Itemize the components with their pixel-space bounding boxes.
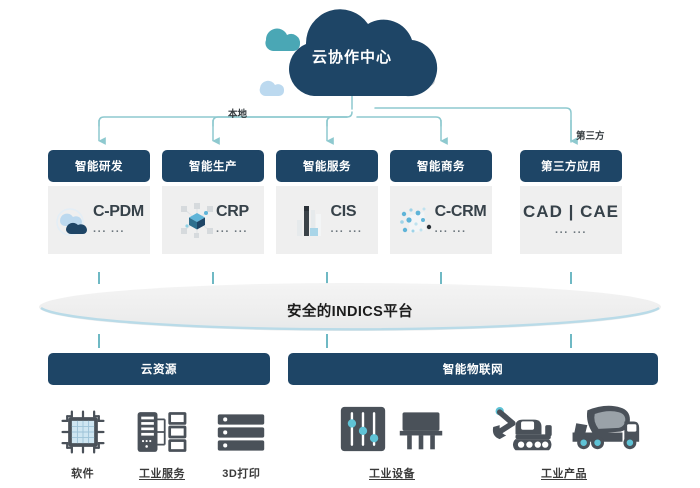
product-dots: ··· ··· (555, 227, 587, 239)
app-card-service[interactable]: 智能服务 CIS ··· ··· (276, 150, 378, 254)
cloud-resource-icons: 软件 (44, 400, 280, 481)
product-name: CAD | CAE (523, 202, 619, 222)
app-card-body: C-PDM ··· ··· (48, 186, 150, 254)
cement-truck-icon (567, 401, 641, 458)
infra-bar-cloud-resources[interactable]: 云资源 (48, 353, 270, 385)
small-teal-cloud (265, 29, 300, 51)
resource-label: 工业服务 (139, 465, 185, 481)
app-card-body: CIS ··· ··· (276, 186, 378, 254)
resource-item-3d-printing[interactable]: 3D打印 (215, 400, 267, 481)
app-card-header: 智能商务 (390, 150, 492, 182)
iot-resource-icons: 工业设备 (318, 400, 662, 481)
resource-label: 工业产品 (541, 465, 587, 481)
app-card-production[interactable]: 智能生产 (162, 150, 264, 254)
product-name: CRP (216, 203, 249, 221)
product-dots: ··· ··· (330, 226, 362, 238)
resource-label: 3D打印 (222, 465, 260, 481)
app-card-body: CAD | CAE ··· ··· (520, 186, 622, 254)
infra-bar-iot[interactable]: 智能物联网 (288, 353, 658, 385)
cloud-icon (54, 200, 90, 240)
product-dots: ··· ··· (435, 226, 467, 238)
app-card-header: 智能生产 (162, 150, 264, 182)
platform-label: 安全的INDICS平台 (38, 300, 662, 321)
product-name: CIS (330, 203, 356, 221)
excavator-icon (487, 401, 557, 458)
branch-label-local: 本地 (228, 106, 247, 120)
product-dots: ··· ··· (93, 226, 125, 238)
product-name: C-PDM (93, 203, 144, 221)
resource-item-industrial-equipment[interactable]: 工业设备 (339, 400, 445, 481)
chip-icon (57, 400, 109, 458)
resource-item-industrial-products[interactable]: 工业产品 (487, 400, 641, 481)
app-card-business[interactable]: 智能商务 (390, 150, 492, 254)
product-dots: ··· ··· (216, 226, 248, 238)
app-card-header: 智能研发 (48, 150, 150, 182)
app-card-rnd[interactable]: 智能研发 C-PDM ··· ··· (48, 150, 150, 254)
app-card-header: 第三方应用 (520, 150, 622, 182)
resource-item-industrial-service[interactable]: 工业服务 (134, 400, 190, 481)
app-card-third-party[interactable]: 第三方应用 CAD | CAE ··· ··· (520, 150, 622, 254)
network-cube-icon (177, 200, 213, 240)
platform-ellipse: 安全的INDICS平台 (38, 282, 662, 334)
app-card-body: C-CRM ··· ··· (390, 186, 492, 254)
transistor-icon (397, 405, 445, 458)
slider-panel-icon (339, 405, 387, 458)
small-lightblue-cloud (260, 81, 284, 96)
bar-tools-icon (291, 200, 327, 240)
cloud-collaboration-center: 云协作中心 (252, 4, 452, 104)
server-network-icon (134, 400, 190, 458)
cloud-icon (252, 4, 452, 104)
app-card-header: 智能服务 (276, 150, 378, 182)
diagram-canvas: 云协作中心 本地 第三方 智能研发 C-PDM ··· ··· 智能生产 (0, 0, 700, 488)
resource-label: 工业设备 (369, 465, 415, 481)
resource-label: 软件 (71, 465, 94, 481)
app-card-body: CRP ··· ··· (162, 186, 264, 254)
scatter-dots-icon (396, 200, 432, 240)
branch-label-third-party: 第三方 (576, 128, 605, 142)
product-name: C-CRM (435, 203, 487, 221)
server-rack-icon (215, 400, 267, 458)
resource-item-software[interactable]: 软件 (57, 400, 109, 481)
